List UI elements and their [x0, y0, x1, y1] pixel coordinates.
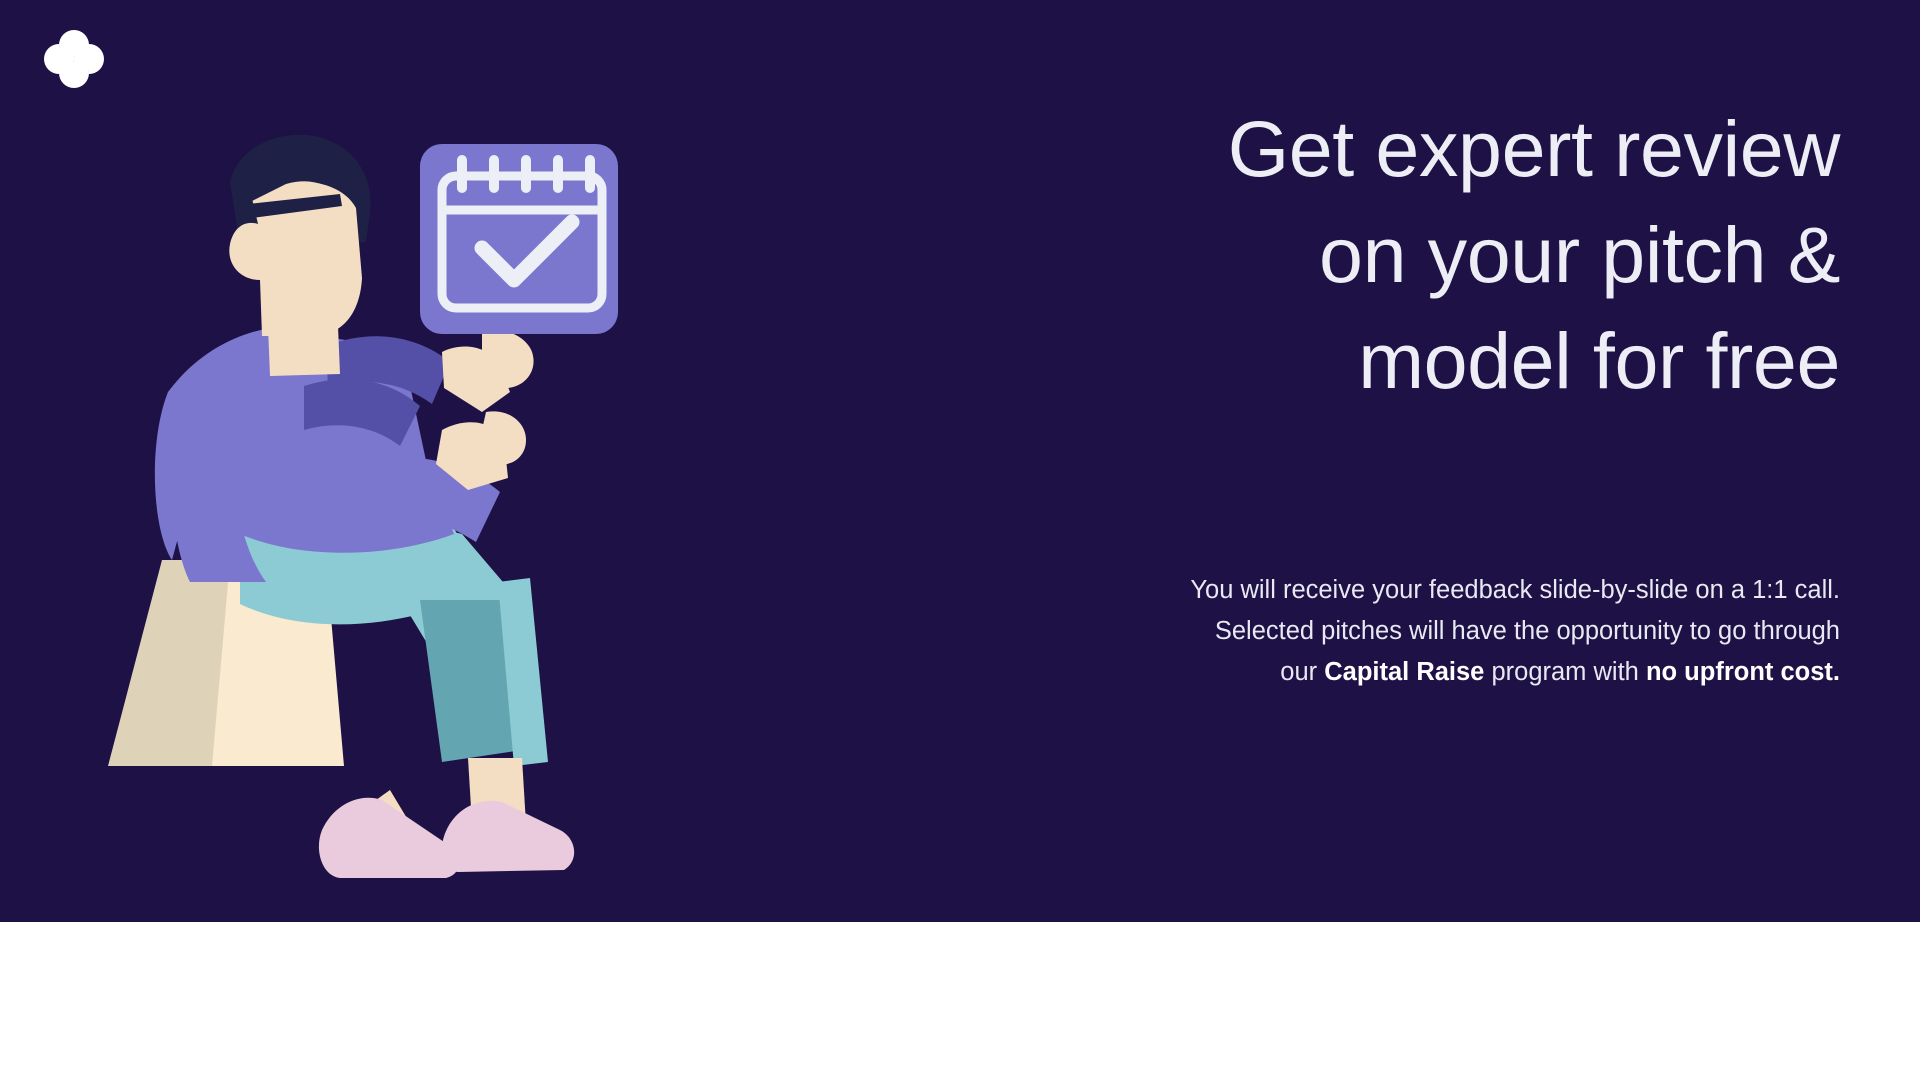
shoe-front	[441, 758, 575, 872]
subcopy-line-3-mid: program with	[1484, 658, 1646, 686]
shoe-back	[319, 790, 459, 878]
no-upfront-cost-emphasis: no upfront cost.	[1646, 658, 1840, 686]
subcopy-line-2: Selected pitches will have the opportuni…	[640, 611, 1840, 652]
hero-subcopy: You will receive your feedback slide-by-…	[640, 570, 1880, 693]
hero-slide: Get expert review on your pitch & model …	[0, 0, 1920, 1080]
hero-text-column: Get expert review on your pitch & model …	[640, 96, 1880, 693]
subcopy-line-3: our Capital Raise program with no upfron…	[640, 652, 1840, 693]
subcopy-line-3-pre: our	[1280, 658, 1324, 686]
page-title: Get expert review on your pitch & model …	[640, 96, 1880, 414]
calendar-check-icon	[420, 144, 618, 334]
capital-raise-emphasis: Capital Raise	[1324, 658, 1484, 686]
person-holding-calendar-illustration	[90, 130, 650, 922]
subcopy-line-1: You will receive your feedback slide-by-…	[640, 570, 1840, 611]
pinwheel-logo-icon[interactable]	[40, 26, 108, 92]
